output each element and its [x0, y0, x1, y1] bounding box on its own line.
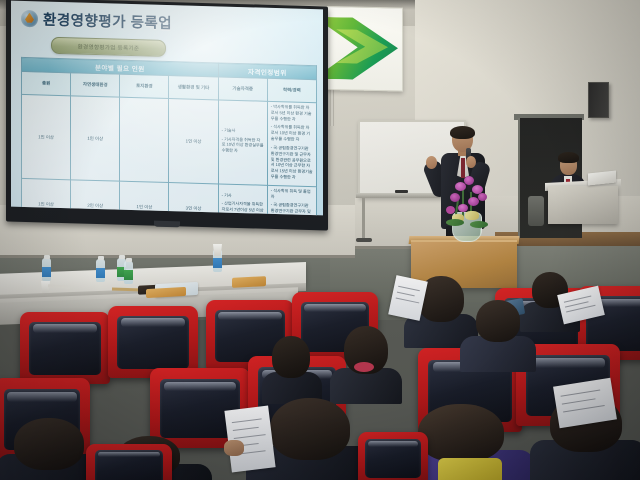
cell-career: - 석사학위 취득 및 졸업자 - 국·공립환경연구기관 환경연구기관 근무자 …	[267, 185, 316, 215]
cell-nature: 1인 이상	[71, 96, 120, 181]
handout-booklet[interactable]	[224, 406, 275, 473]
col-career: 학력/경력	[267, 78, 316, 102]
cell-career: - 박사학위를 취득한 자로서 5년 이상 환경 기술무를 수행한 자 - 석사…	[267, 101, 316, 186]
presenter-hair	[450, 126, 475, 139]
staff-hair	[558, 152, 579, 163]
cert-line: - 기사	[222, 192, 264, 199]
cell-certificate: - 기술사 - 기사자격을 취득한 자로 10년 이상 환경실무를 수행한 자	[218, 100, 267, 185]
handout-booklet[interactable]	[553, 378, 617, 429]
col-certificate: 기술자격증	[218, 77, 267, 101]
slide-subtitle-text: 환경영향평가업 등록기준	[78, 42, 140, 52]
hair-tie	[354, 362, 374, 372]
snack-tray	[232, 276, 266, 288]
paper-cup	[213, 244, 222, 256]
marker-pen-icon	[395, 190, 408, 193]
wall-speaker-icon	[588, 82, 609, 118]
reader-hand	[224, 440, 244, 456]
career-line: - 국·공립환경연구기관 환경연구기관 근무자 및 환경관련 공무원으로서 5년…	[271, 202, 313, 215]
cert-line: - 기사자격을 취득한 자로 10년 이상 환경실무를 수행한 자	[222, 136, 264, 155]
col-land: 토지환경	[120, 74, 169, 98]
slide-table: 분야별 필요 인원 자격인정범위 총원 자연생태환경 토지환경 생활환경 및 기…	[21, 57, 317, 215]
staff-chair	[528, 196, 544, 226]
auditorium-seat[interactable]	[86, 444, 172, 480]
projection-screen: 환경영향평가 등록업 환경영향평가업 등록기준 분야별 필요 인원 자격인정범위…	[6, 0, 328, 236]
screen-surface: 환경영향평가 등록업 환경영향평가업 등록기준 분야별 필요 인원 자격인정범위…	[11, 1, 323, 216]
water-bottle	[96, 259, 105, 282]
cert-line: - 기술사	[222, 127, 264, 134]
slide-title: 환경영향평가 등록업	[43, 8, 172, 33]
col-total: 총원	[22, 71, 71, 95]
water-bottle	[124, 261, 133, 284]
presenter-tie	[461, 158, 465, 178]
water-bottle	[42, 258, 51, 281]
orb-flame-icon	[21, 9, 38, 26]
career-line: - 석사학위를 취득한 자로서 10년 이상 환경 기술무를 수행한 자	[271, 124, 313, 143]
slide-subtitle-bar: 환경영향평가업 등록기준	[51, 37, 166, 57]
col-living: 생활환경 및 기타	[169, 76, 218, 100]
col-nature: 자연생태환경	[71, 73, 120, 97]
whiteboard-foot	[356, 238, 372, 242]
presenter-left-hand	[426, 156, 437, 169]
cell-living: 1인 이상	[169, 99, 218, 184]
cell-certificate: - 기사 - 산업기사자격을 취득한 자로서 7년이상 5년 이상 환경환 기술…	[218, 184, 267, 216]
career-line: - 박사학위를 취득한 자로서 5년 이상 환경 기술무를 수행한 자	[271, 104, 313, 123]
staff-desk	[548, 186, 618, 224]
auditorium-seat[interactable]	[20, 312, 110, 384]
career-line: - 석사학위 취득 및 졸업자	[271, 188, 313, 201]
career-line: - 국·공립환경연구기관 환경연구기관 및 근무자 및 환경관련 공무원으로서 …	[271, 145, 313, 181]
presentation-slide: 환경영향평가 등록업 환경영향평가업 등록기준 분야별 필요 인원 자격인정범위…	[11, 1, 323, 216]
cell-total: 1인 이상	[22, 94, 71, 179]
presenter-right-hand	[466, 156, 476, 168]
screen-pull-tab	[154, 221, 180, 228]
photo-scene: 수회 구전학문 …급 환경공학과 환경영향평가 등록업 환경영향평가업 등록기준…	[0, 0, 640, 480]
audience-member	[330, 326, 402, 402]
scarf	[438, 458, 502, 480]
slide-title-row: 환경영향평가 등록업	[21, 5, 317, 39]
cell-land	[120, 97, 169, 182]
cell-living: 3인 이상	[169, 182, 218, 215]
table-row: 1인 이상 1인 이상 1인 이상 - 기술사 - 기사자격을 취득한 자로 1…	[22, 94, 317, 186]
audience-member	[460, 300, 536, 370]
whiteboard-leg	[362, 198, 365, 240]
audience-member	[262, 336, 322, 402]
auditorium-seat[interactable]	[358, 432, 428, 480]
